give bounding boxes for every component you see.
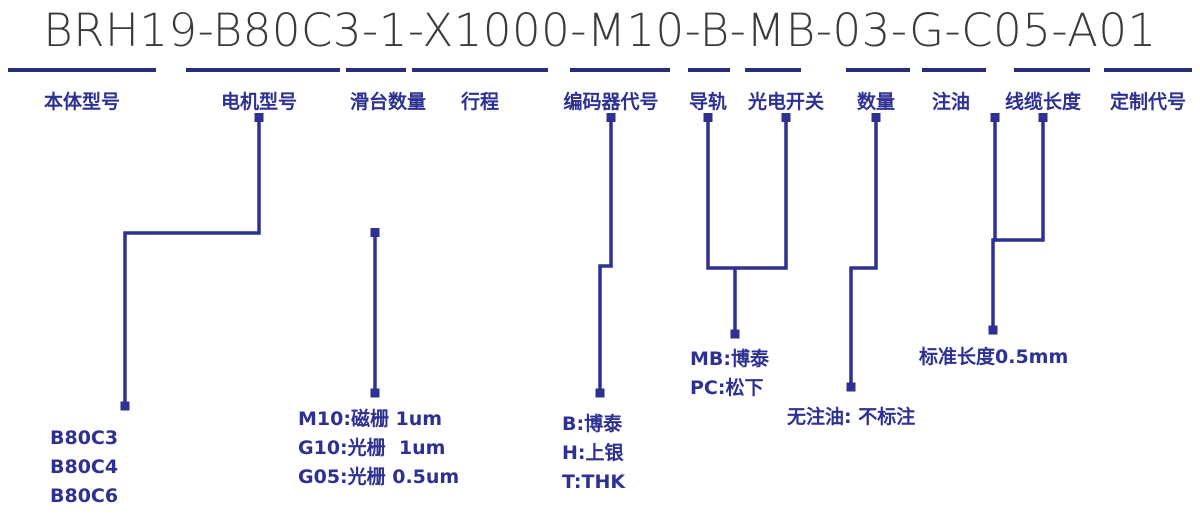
option-block-motor-model-options: M10:磁栅 1umG10:光栅 1umG05:光栅 0.5um bbox=[298, 405, 459, 492]
segment-bar-slide-count bbox=[346, 68, 406, 72]
segment-bar-cable-length bbox=[1014, 68, 1090, 72]
leader-encoder-anchor bbox=[607, 113, 616, 122]
option-line: G05:光栅 0.5um bbox=[298, 463, 459, 492]
option-block-photo-switch-options: MB:博泰PC:松下 bbox=[690, 345, 769, 403]
field-label-guide-rail: 导轨 bbox=[689, 87, 727, 114]
leader-cable-length-terminal bbox=[989, 326, 998, 335]
option-line: T:THK bbox=[562, 468, 625, 497]
segment-bar-stroke bbox=[412, 68, 548, 72]
segment-bar-custom-code bbox=[1104, 68, 1192, 72]
part-number-title: BRH19-B80C3-1-X1000-M10-B-MB-03-G-C05-A0… bbox=[0, 0, 1200, 60]
option-line: 标准长度0.5mm bbox=[919, 343, 1068, 372]
field-label-quantity: 数量 bbox=[857, 87, 895, 114]
option-block-guide-rail-options: B:博泰H:上银T:THK bbox=[562, 410, 625, 497]
field-label-encoder-code: 编码器代号 bbox=[564, 87, 659, 114]
option-block-body-model-options: B80C3B80C4B80C6 bbox=[50, 424, 118, 511]
segment-bar-oil-injection bbox=[922, 68, 986, 72]
segment-bar-quantity bbox=[846, 68, 910, 72]
option-line: G10:光栅 1um bbox=[298, 434, 459, 463]
option-line: B80C4 bbox=[50, 453, 118, 482]
option-line: PC:松下 bbox=[690, 374, 769, 403]
segment-bar-motor-model bbox=[186, 68, 340, 72]
option-block-cable-length-options: 标准长度0.5mm bbox=[919, 343, 1068, 372]
field-label-cable-length: 线缆长度 bbox=[1005, 87, 1081, 114]
leader-guide-rail bbox=[708, 118, 735, 334]
segment-bar-body-model bbox=[8, 68, 156, 72]
field-label-motor-model: 电机型号 bbox=[221, 87, 297, 114]
leader-photo-switch-anchor bbox=[782, 113, 791, 122]
field-label-oil-injection: 注油 bbox=[932, 87, 970, 114]
option-line: H:上银 bbox=[562, 439, 625, 468]
field-label-body-model: 本体型号 bbox=[44, 87, 120, 114]
field-label-custom-code: 定制代号 bbox=[1110, 87, 1186, 114]
leader-encoder-terminal bbox=[596, 389, 605, 398]
leader-quantity bbox=[851, 118, 876, 387]
segment-bar-guide-rail bbox=[688, 68, 730, 72]
leader-cable-length bbox=[993, 118, 1043, 330]
option-line: B80C6 bbox=[50, 482, 118, 511]
leader-guide-rail-terminal bbox=[731, 330, 740, 339]
option-line: MB:博泰 bbox=[690, 345, 769, 374]
option-line: B:博泰 bbox=[562, 410, 625, 439]
leader-motor-model-terminal bbox=[371, 389, 380, 398]
field-label-photo-switch: 光电开关 bbox=[748, 87, 824, 114]
leader-quantity-anchor bbox=[872, 113, 881, 122]
leader-oil bbox=[993, 118, 995, 240]
leader-quantity-terminal bbox=[847, 383, 856, 392]
leader-body-model-terminal bbox=[121, 402, 130, 411]
option-line: B80C3 bbox=[50, 424, 118, 453]
leader-cable-length-anchor bbox=[1039, 113, 1048, 122]
field-label-stroke: 行程 bbox=[461, 87, 499, 114]
leader-photo-switch bbox=[735, 118, 786, 268]
leader-body-model bbox=[125, 118, 259, 406]
leader-motor-model-anchor bbox=[371, 228, 380, 237]
part-number-breakdown-diagram: BRH19-B80C3-1-X1000-M10-B-MB-03-G-C05-A0… bbox=[0, 0, 1200, 519]
option-block-oil-injection-options: 无注油: 不标注 bbox=[787, 403, 915, 432]
option-line: M10:磁栅 1um bbox=[298, 405, 459, 434]
leader-guide-rail-anchor bbox=[704, 113, 713, 122]
field-label-slide-count: 滑台数量 bbox=[350, 87, 426, 114]
segment-bar-photo-switch bbox=[745, 68, 801, 72]
leader-encoder bbox=[600, 118, 611, 393]
option-line: 无注油: 不标注 bbox=[787, 403, 915, 432]
segment-bar-encoder-code bbox=[570, 68, 670, 72]
leader-oil-anchor bbox=[991, 113, 1000, 122]
leader-body-model-anchor bbox=[255, 113, 264, 122]
